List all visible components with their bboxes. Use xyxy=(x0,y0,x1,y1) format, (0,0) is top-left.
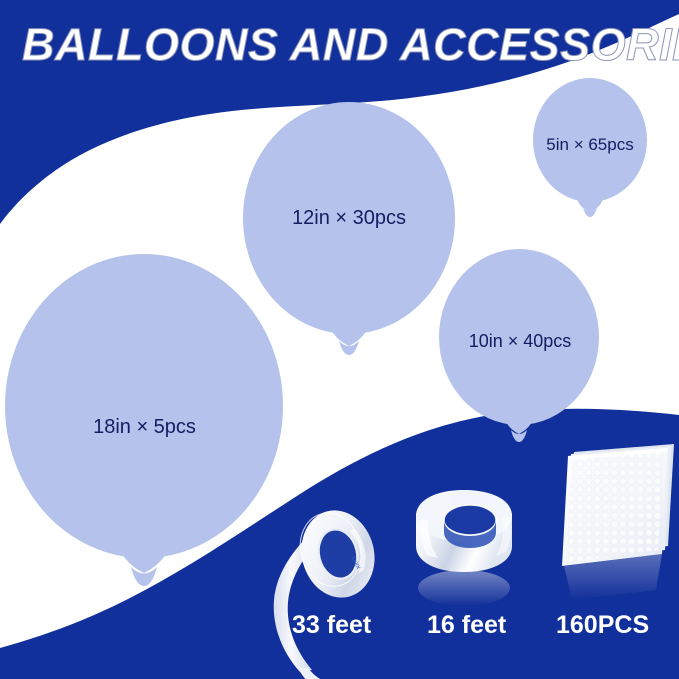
ribbon-roll: xxxx xyxy=(268,492,408,679)
tape-ring-graphic xyxy=(406,484,526,614)
glue-dot-sheets-graphic xyxy=(550,434,679,609)
balloon-5in: 5in × 65pcs xyxy=(531,78,649,220)
glue-dot-unit: PCS xyxy=(598,611,649,639)
balloon-18in: 18in × 5pcs xyxy=(3,253,286,591)
glue-dot-sheets-label: 160PCS xyxy=(556,611,649,640)
page-title: BALLOONS AND ACCESSORIES xyxy=(22,22,679,67)
ribbon-roll-graphic: xxxx xyxy=(268,492,408,679)
product-image: BALLOONS AND ACCESSORIES 5in × 65pcs 12i… xyxy=(0,0,679,679)
balloon-label-18in: 18in × 5pcs xyxy=(93,416,196,439)
balloon-label-5in: 5in × 65pcs xyxy=(546,135,633,155)
balloon-10in: 10in × 40pcs xyxy=(438,249,602,445)
ribbon-roll-label: 33 feet xyxy=(292,611,371,640)
balloon-label-10in: 10in × 40pcs xyxy=(469,331,572,352)
glue-dot-count: 160 xyxy=(556,611,598,639)
balloon-label-12in: 12in × 30pcs xyxy=(292,207,406,230)
glue-dot-sheets xyxy=(550,434,679,609)
tape-ring xyxy=(406,484,526,614)
tape-ring-label: 16 feet xyxy=(427,611,506,640)
